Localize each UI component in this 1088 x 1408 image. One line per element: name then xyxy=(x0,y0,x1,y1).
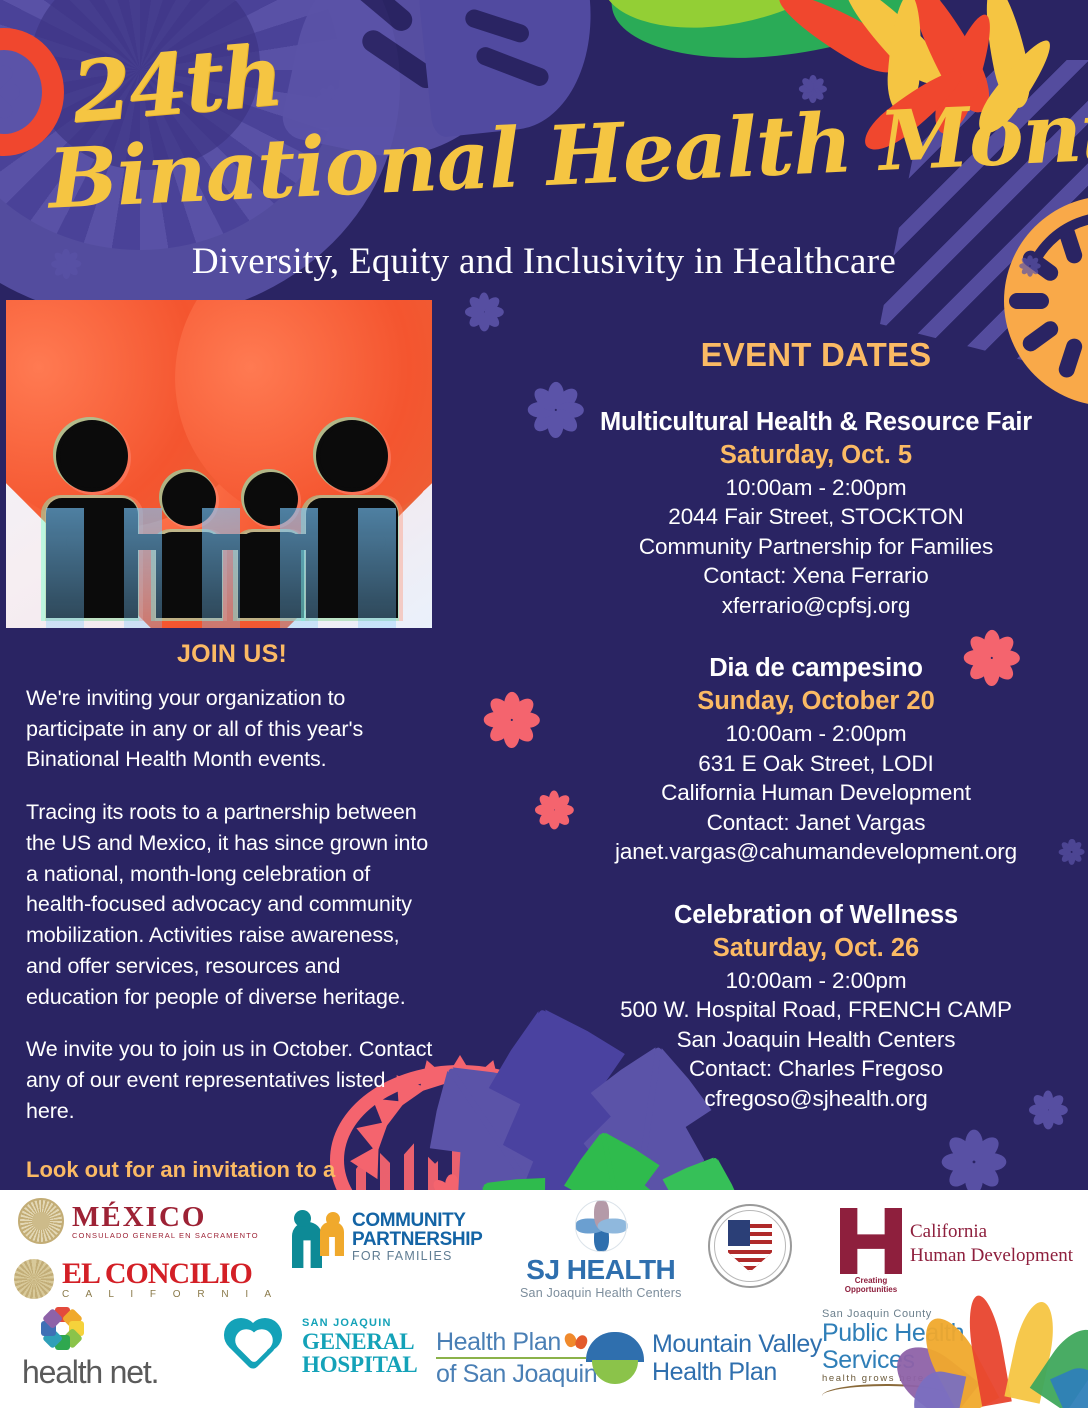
green-leaf-blob-decoration xyxy=(603,0,977,72)
mexico-seal-icon xyxy=(18,1198,64,1244)
flower-decoration xyxy=(466,294,502,330)
sj-health-sub: San Joaquin Health Centers xyxy=(520,1286,682,1300)
logo-el-concilio: EL CONCILIO C A L I F O R N I A xyxy=(14,1258,278,1300)
cpf-line-1: COMMUNITY xyxy=(352,1211,482,1231)
logo-mountain-valley-health-plan: Mountain Valley Health Plan xyxy=(586,1330,822,1386)
sjg-line-1: SAN JOAQUIN xyxy=(302,1318,418,1330)
sj-general-heart-icon xyxy=(228,1318,294,1376)
chd-hands-icon xyxy=(840,1208,902,1274)
logo-sj-general-hospital: SAN JOAQUIN GENERAL HOSPITAL xyxy=(228,1318,418,1376)
mexico-logo-sub: CONSULADO GENERAL EN SACRAMENTO xyxy=(72,1232,259,1240)
logo-mexico-consulate: MÉXICO CONSULADO GENERAL EN SACRAMENTO xyxy=(18,1198,259,1244)
event-date: Saturday, Oct. 5 xyxy=(560,441,1072,470)
cpf-line-2: PARTNERSHIP xyxy=(352,1230,482,1250)
chd-line-1: California xyxy=(910,1220,1073,1244)
sjg-line-2: GENERAL xyxy=(302,1330,418,1353)
event-email[interactable]: xferrario@cpfsj.org xyxy=(560,591,1072,620)
event-name: Celebration of Wellness xyxy=(560,901,1072,930)
hpsj-line-1: Health Plan xyxy=(436,1328,561,1356)
flower-decoration xyxy=(318,86,344,112)
community-partnership-icon xyxy=(290,1206,344,1268)
el-concilio-seal-icon xyxy=(14,1259,54,1299)
invitation-paragraph-2: Tracing its roots to a partnership betwe… xyxy=(26,797,438,1012)
invitation-paragraph-1: We're inviting your organization to part… xyxy=(26,683,438,775)
event-org: California Human Development xyxy=(560,778,1072,807)
mv-line-1: Mountain Valley xyxy=(652,1330,822,1358)
lulac-seal-icon xyxy=(708,1204,792,1288)
logo-sj-health: SJ HEALTH San Joaquin Health Centers xyxy=(520,1200,682,1300)
sponsor-logo-band: MÉXICO CONSULADO GENERAL EN SACRAMENTO E… xyxy=(0,1190,1088,1408)
event-item: Celebration of Wellness Saturday, Oct. 2… xyxy=(560,901,1072,1113)
event-email[interactable]: cfregoso@sjhealth.org xyxy=(560,1084,1072,1113)
family-heart-image xyxy=(6,300,432,628)
hpsj-line-2: of San Joaquin xyxy=(436,1360,597,1388)
chd-tagline-2: Opportunities xyxy=(840,1285,902,1294)
mexico-logo-name: MÉXICO xyxy=(72,1202,259,1232)
flower-decoration xyxy=(486,694,538,746)
logo-california-human-development: Creating Opportunities California Human … xyxy=(840,1208,1073,1294)
event-date: Sunday, October 20 xyxy=(560,687,1072,716)
event-time: 10:00am - 2:00pm xyxy=(560,966,1072,995)
bird-of-paradise-decoration xyxy=(930,1284,1080,1408)
event-org: San Joaquin Health Centers xyxy=(560,1025,1072,1054)
sj-health-icon xyxy=(575,1200,627,1252)
event-contact: Contact: Janet Vargas xyxy=(560,808,1072,837)
event-item: Dia de campesino Sunday, October 20 10:0… xyxy=(560,654,1072,866)
event-contact: Contact: Charles Fregoso xyxy=(560,1054,1072,1083)
health-net-icon xyxy=(36,1302,88,1354)
chd-tagline-1: Creating xyxy=(840,1276,902,1285)
event-time: 10:00am - 2:00pm xyxy=(560,473,1072,502)
event-dates-heading: EVENT DATES xyxy=(560,336,1072,374)
invitation-paragraph-3: We invite you to join us in October. Con… xyxy=(26,1034,438,1126)
mv-line-2: Health Plan xyxy=(652,1358,822,1386)
event-contact: Contact: Xena Ferrario xyxy=(560,561,1072,590)
event-address: 2044 Fair Street, STOCKTON xyxy=(560,502,1072,531)
event-dates-column: EVENT DATES Multicultural Health & Resou… xyxy=(560,336,1072,1147)
event-time: 10:00am - 2:00pm xyxy=(560,719,1072,748)
logo-community-partnership: COMMUNITY PARTNERSHIP FOR FAMILIES xyxy=(290,1206,482,1268)
event-name: Dia de campesino xyxy=(560,654,1072,683)
event-date: Saturday, Oct. 26 xyxy=(560,934,1072,963)
butterfly-icon xyxy=(565,1333,587,1351)
logo-health-net: health net. xyxy=(22,1302,158,1391)
invitation-column: JOIN US! We're inviting your organizatio… xyxy=(26,640,438,1216)
event-address: 500 W. Hospital Road, FRENCH CAMP xyxy=(560,995,1072,1024)
lime-leaf-blob-decoration xyxy=(592,0,867,41)
el-concilio-logo-sub: C A L I F O R N I A xyxy=(62,1290,278,1301)
join-us-heading: JOIN US! xyxy=(26,640,438,669)
logo-lulac xyxy=(708,1204,792,1288)
el-concilio-logo-name: EL CONCILIO xyxy=(62,1258,278,1290)
sjg-line-3: HOSPITAL xyxy=(302,1353,418,1376)
event-item: Multicultural Health & Resource Fair Sat… xyxy=(560,408,1072,620)
mountain-valley-icon xyxy=(586,1332,644,1384)
cpf-line-3: FOR FAMILIES xyxy=(352,1250,482,1263)
event-org: Community Partnership for Families xyxy=(560,532,1072,561)
logo-health-plan-san-joaquin: Health Plan of San Joaquin xyxy=(436,1328,597,1388)
sj-health-name: SJ HEALTH xyxy=(520,1254,682,1286)
event-email[interactable]: janet.vargas@cahumandevelopment.org xyxy=(560,837,1072,866)
event-name: Multicultural Health & Resource Fair xyxy=(560,408,1072,437)
poster-subtitle: Diversity, Equity and Inclusivity in Hea… xyxy=(0,240,1088,283)
health-net-name: health net. xyxy=(22,1354,158,1391)
chd-line-2: Human Development xyxy=(910,1244,1073,1268)
poster-canvas: 24th Binational Health Month Diversity, … xyxy=(0,0,1088,1408)
event-address: 631 E Oak Street, LODI xyxy=(560,749,1072,778)
figure-legs-overlay xyxy=(6,508,432,628)
